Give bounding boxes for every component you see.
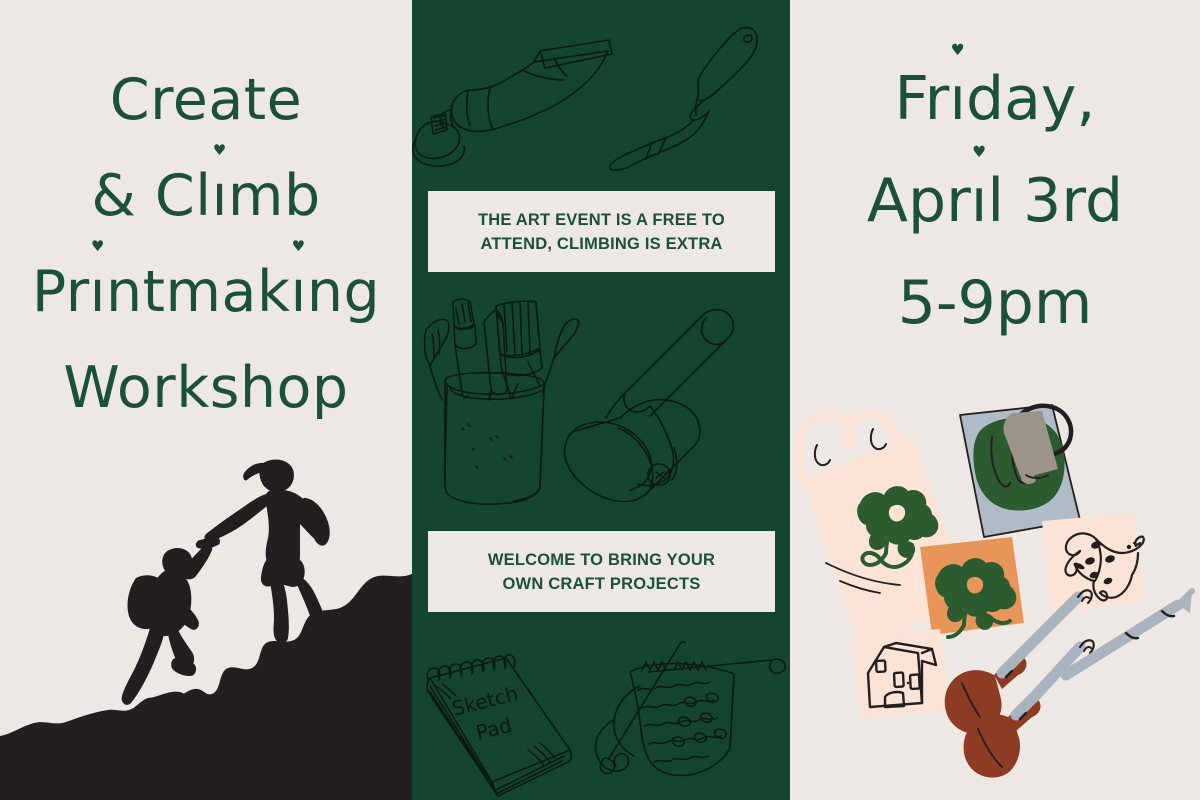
left-panel: Create & Clı♥mb Prı♥ntmakı♥ng Workshop bbox=[0, 0, 412, 800]
heart-dot-icon: ♥ bbox=[292, 240, 306, 255]
paint-tube-icon bbox=[413, 40, 612, 166]
date-line-3: 5-9pm bbox=[790, 252, 1200, 354]
house-print-card bbox=[852, 629, 950, 719]
sketch-pad-label-2: Pad bbox=[473, 713, 514, 745]
callout-bring-projects: WELCOME TO BRING YOUR OWN CRAFT PROJECTS bbox=[428, 531, 775, 612]
title-line-1: Create bbox=[0, 52, 412, 148]
ink-plate-with-brayer bbox=[960, 405, 1080, 537]
callout-1-text: THE ART EVENT IS A FREE TO ATTEND, CLIMB… bbox=[478, 208, 725, 256]
sketch-pad-icon: Sketch Pad bbox=[427, 655, 571, 796]
title-line-4: Workshop bbox=[0, 340, 412, 436]
callout-free-to-attend: THE ART EVENT IS A FREE TO ATTEND, CLIMB… bbox=[428, 191, 775, 272]
center-illustration-row-1 bbox=[412, 18, 790, 188]
heart-dot-icon: ♥ bbox=[972, 145, 986, 161]
brayer-roller-icon bbox=[565, 310, 734, 502]
heart-dot-icon: ♥ bbox=[91, 240, 105, 255]
center-illustration-row-3: Sketch Pad bbox=[412, 628, 790, 800]
two-climbers-silhouette bbox=[0, 440, 412, 800]
bird-print-card bbox=[1042, 513, 1144, 613]
date-line-1: Frı♥day, bbox=[790, 48, 1200, 150]
event-date-block: Frı♥day, Aprı♥l 3rd 5-9pm bbox=[790, 48, 1200, 354]
page-title: Create & Clı♥mb Prı♥ntmakı♥ng Workshop bbox=[0, 52, 412, 436]
sketch-pad-label-1: Sketch bbox=[449, 681, 520, 721]
orange-flower-print-card bbox=[920, 537, 1024, 637]
brush-jar-icon bbox=[425, 299, 579, 504]
title-line-3: Prı♥ntmakı♥ng bbox=[0, 244, 412, 340]
poster-canvas: Create & Clı♥mb Prı♥ntmakı♥ng Workshop bbox=[0, 0, 1200, 800]
date-line-2: Aprı♥l 3rd bbox=[790, 150, 1200, 252]
right-panel: Frı♥day, Aprı♥l 3rd 5-9pm bbox=[790, 0, 1200, 800]
palette-knife-icon bbox=[610, 27, 757, 170]
printmaking-collage bbox=[790, 385, 1200, 800]
center-panel: THE ART EVENT IS A FREE TO ATTEND, CLIMB… bbox=[412, 0, 790, 800]
center-illustration-row-2 bbox=[412, 288, 790, 523]
callout-2-text: WELCOME TO BRING YOUR OWN CRAFT PROJECTS bbox=[488, 548, 715, 596]
title-line-2: & Clı♥mb bbox=[0, 148, 412, 244]
knitting-icon bbox=[596, 642, 786, 776]
heart-dot-icon: ♥ bbox=[951, 43, 965, 59]
heart-dot-icon: ♥ bbox=[213, 144, 227, 159]
